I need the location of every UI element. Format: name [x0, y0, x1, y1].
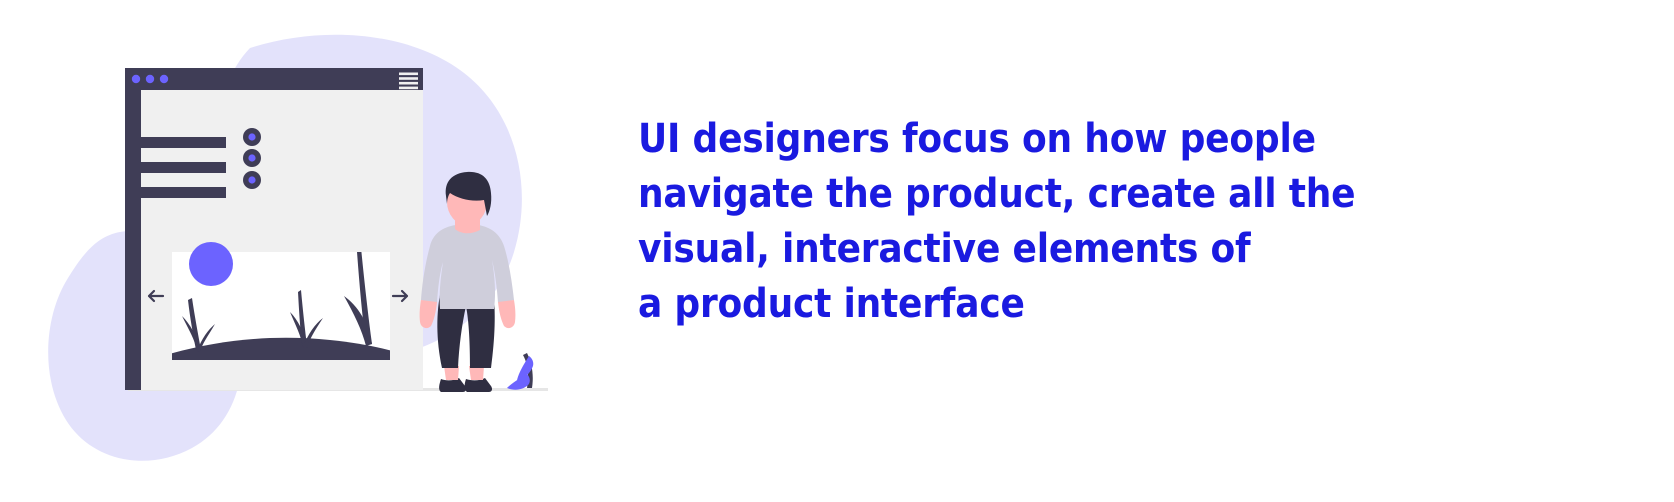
bullet-item-1[interactable]	[243, 128, 261, 146]
window-titlebar	[125, 68, 423, 90]
sun-circle	[189, 242, 233, 286]
ankle-right	[469, 366, 484, 380]
browser-window[interactable]	[125, 68, 423, 390]
titlebar-dot-2[interactable]	[146, 75, 154, 83]
window-left-border	[125, 68, 141, 390]
illustration	[0, 0, 600, 502]
headline-line-4: a product interface	[638, 277, 1438, 332]
shoe-left	[439, 378, 466, 392]
bullet-item-2[interactable]	[243, 149, 261, 167]
shoe-right	[465, 378, 492, 392]
headline-line-1: UI designers focus on how people	[638, 112, 1438, 167]
headline-line-2: navigate the product, create all the	[638, 167, 1438, 222]
headline: UI designers focus on how people navigat…	[638, 112, 1438, 332]
illustration-banner: UI designers focus on how people navigat…	[0, 0, 1674, 502]
bullet-item-3[interactable]	[243, 171, 261, 189]
menu-bar-3[interactable]	[141, 187, 226, 198]
titlebar-dot-1[interactable]	[132, 75, 140, 83]
bullet-list[interactable]	[243, 128, 261, 189]
headline-line-3: visual, interactive elements of	[638, 222, 1438, 277]
menu-bar-1[interactable]	[141, 137, 226, 148]
menu-bar-2[interactable]	[141, 162, 226, 173]
ankle-left	[444, 366, 459, 380]
titlebar-dot-3[interactable]	[160, 75, 168, 83]
hand-right	[498, 300, 515, 328]
purple-leaf-plant	[507, 353, 533, 390]
sidebar-menu-bars[interactable]	[141, 137, 226, 198]
